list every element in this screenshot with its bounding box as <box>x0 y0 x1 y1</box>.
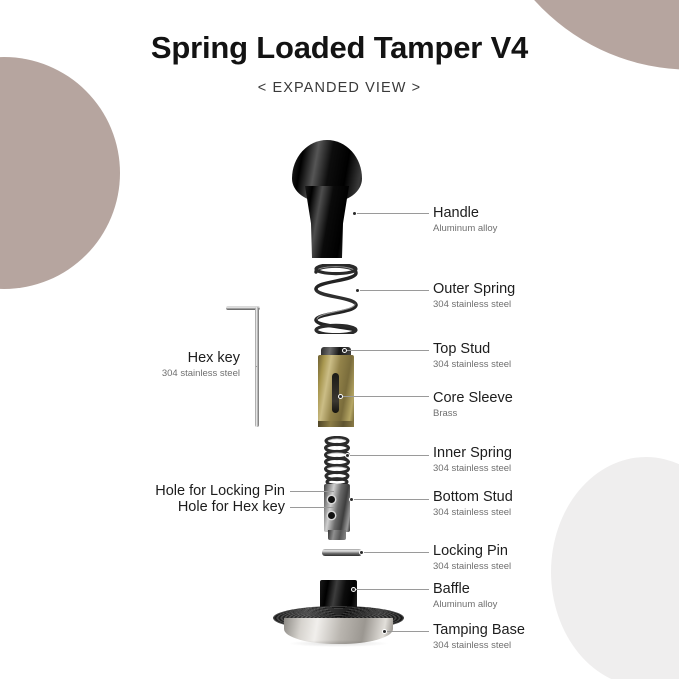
label-hole-for-locking-pin-title: Hole for Locking Pin <box>120 483 285 499</box>
leader-dot-outer-spring <box>355 288 360 293</box>
leader-dot-core-sleeve <box>338 394 343 399</box>
leader-line-inner-spring <box>348 455 429 456</box>
leader-dot-bottom-stud <box>349 497 354 502</box>
hex-key-shaft <box>255 307 259 427</box>
label-outer-spring: Outer Spring 304 stainless steel <box>433 281 515 312</box>
leader-line-handle <box>355 213 429 214</box>
label-locking-pin: Locking Pin 304 stainless steel <box>433 543 511 574</box>
label-outer-spring-title: Outer Spring <box>433 281 515 297</box>
leader-dot-handle <box>352 211 357 216</box>
leader-line-core-sleeve <box>341 396 429 397</box>
label-inner-spring: Inner Spring 304 stainless steel <box>433 445 512 476</box>
label-bottom-stud-title: Bottom Stud <box>433 489 513 505</box>
leader-dot-locking-pin <box>359 550 364 555</box>
leader-dot-top-stud <box>342 348 347 353</box>
bottom-stud-tip <box>328 530 346 540</box>
exploded-view-diagram: Spring Loaded Tamper V4 < EXPANDED VIEW … <box>0 0 679 679</box>
core-sleeve-slot <box>332 373 339 413</box>
leader-dot-tamping-base <box>382 629 387 634</box>
hole-for-hex-key <box>328 512 335 519</box>
label-bottom-stud: Bottom Stud 304 stainless steel <box>433 489 513 520</box>
label-handle-title: Handle <box>433 205 497 221</box>
tamping-base-shadow <box>289 640 388 647</box>
leader-line-top-stud <box>345 350 429 351</box>
leader-dot-baffle <box>351 587 356 592</box>
label-locking-pin-title: Locking Pin <box>433 543 511 559</box>
label-hole-for-hex-key: Hole for Hex key <box>120 499 285 515</box>
label-hex-key-material: 304 stainless steel <box>140 368 240 381</box>
label-inner-spring-title: Inner Spring <box>433 445 512 461</box>
leader-line-hole-locking-pin <box>290 491 334 492</box>
label-core-sleeve: Core Sleeve Brass <box>433 390 513 421</box>
part-inner-spring <box>322 436 352 488</box>
leader-line-tamping-base <box>385 631 429 632</box>
label-baffle: Baffle Aluminum alloy <box>433 581 497 612</box>
core-sleeve-rim <box>318 421 354 427</box>
label-hole-for-hex-key-title: Hole for Hex key <box>120 499 285 515</box>
label-baffle-title: Baffle <box>433 581 497 597</box>
leader-line-locking-pin <box>362 552 429 553</box>
label-baffle-material: Aluminum alloy <box>433 599 497 612</box>
part-outer-spring <box>310 264 362 334</box>
label-handle-material: Aluminum alloy <box>433 223 497 236</box>
label-core-sleeve-title: Core Sleeve <box>433 390 513 406</box>
label-hex-key-title: Hex key <box>140 350 240 366</box>
label-top-stud: Top Stud 304 stainless steel <box>433 341 511 372</box>
part-bottom-stud <box>324 484 350 540</box>
hole-for-locking-pin <box>328 496 335 503</box>
leader-line-bottom-stud <box>352 499 429 500</box>
label-top-stud-title: Top Stud <box>433 341 511 357</box>
leader-line-baffle <box>354 589 429 590</box>
label-top-stud-material: 304 stainless steel <box>433 359 511 372</box>
label-bottom-stud-material: 304 stainless steel <box>433 507 513 520</box>
leader-dot-inner-spring <box>345 453 350 458</box>
leader-line-hole-hex-key <box>290 507 334 508</box>
product-illustration <box>0 0 679 679</box>
label-core-sleeve-material: Brass <box>433 408 513 421</box>
label-hole-for-locking-pin: Hole for Locking Pin <box>120 483 285 499</box>
label-locking-pin-material: 304 stainless steel <box>433 561 511 574</box>
label-tamping-base: Tamping Base 304 stainless steel <box>433 622 525 653</box>
label-outer-spring-material: 304 stainless steel <box>433 299 515 312</box>
label-inner-spring-material: 304 stainless steel <box>433 463 512 476</box>
label-tamping-base-material: 304 stainless steel <box>433 640 525 653</box>
handle-neck <box>302 186 352 258</box>
label-hex-key: Hex key 304 stainless steel <box>140 350 240 381</box>
label-handle: Handle Aluminum alloy <box>433 205 497 236</box>
part-core-sleeve <box>318 347 354 427</box>
label-tamping-base-title: Tamping Base <box>433 622 525 638</box>
part-handle <box>292 140 362 258</box>
part-locking-pin <box>322 549 362 556</box>
leader-line-outer-spring <box>358 290 429 291</box>
part-tamping-base <box>273 606 404 646</box>
leader-line-hex-key <box>256 366 257 367</box>
